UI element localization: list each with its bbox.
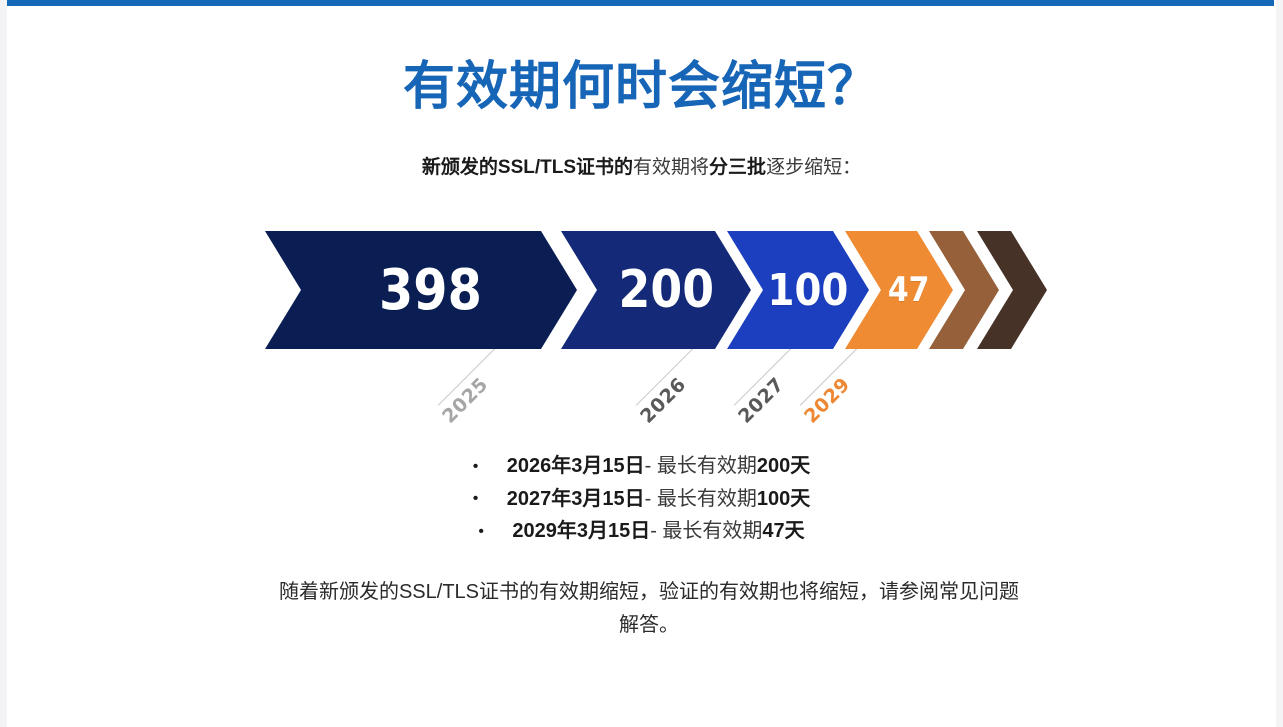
bullet-dot-icon: • [473,483,507,515]
milestone-separator-text: - 最长有效期 [650,520,762,542]
milestone-item: •2026年3月15日- 最长有效期200天 [7,450,1276,483]
top-accent-bar [7,0,1274,6]
milestone-date: 2027年3月15日 [507,488,645,510]
chevron-timeline: 39820010047 [265,231,1030,349]
chevron-segment-2: 200 [561,231,751,349]
milestone-item: •2029年3月15日- 最长有效期47天 [7,515,1276,548]
milestone-list: •2026年3月15日- 最长有效期200天•2027年3月15日- 最长有效期… [7,450,1276,548]
slide-canvas: 有效期何时会缩短？ 新颁发的SSL/TLS证书的有效期将分三批逐步缩短： 398… [7,0,1276,727]
chevron-segment-1: 398 [265,231,577,349]
milestone-date: 2026年3月15日 [507,455,645,477]
bullet-dot-icon: • [478,516,512,548]
year-label-2025: 2025 [440,375,492,427]
year-axis: 2025202620272029 [7,346,1276,426]
chevron-value-4: 47 [888,270,930,310]
milestone-days: 200天 [757,455,810,477]
subtitle-regular-part-1: 有效期将 [633,157,709,178]
milestone-separator-text: - 最长有效期 [645,488,757,510]
year-label-2027: 2027 [736,375,788,427]
chevron-value-1: 398 [379,258,482,323]
milestone-separator-text: - 最长有效期 [645,455,757,477]
year-label-2029: 2029 [802,375,854,427]
subtitle-bold-part-2: 分三批 [709,157,766,178]
bullet-dot-icon: • [473,451,507,483]
chevron-value-2: 200 [618,260,714,320]
subtitle-regular-part-2: 逐步缩短： [766,157,861,178]
milestone-item: •2027年3月15日- 最长有效期100天 [7,483,1276,516]
subtitle-bold-part-1: 新颁发的SSL/TLS证书的 [422,157,633,178]
page-subtitle: 新颁发的SSL/TLS证书的有效期将分三批逐步缩短： [7,155,1276,181]
milestone-days: 100天 [757,488,810,510]
milestone-date: 2029年3月15日 [512,520,650,542]
footer-note: 随着新颁发的SSL/TLS证书的有效期缩短，验证的有效期也将缩短，请参阅常见问题… [269,576,1029,642]
page-title: 有效期何时会缩短？ [7,57,1276,117]
milestone-days: 47天 [762,520,804,542]
year-label-2026: 2026 [638,375,690,427]
chevron-value-3: 100 [767,265,848,316]
